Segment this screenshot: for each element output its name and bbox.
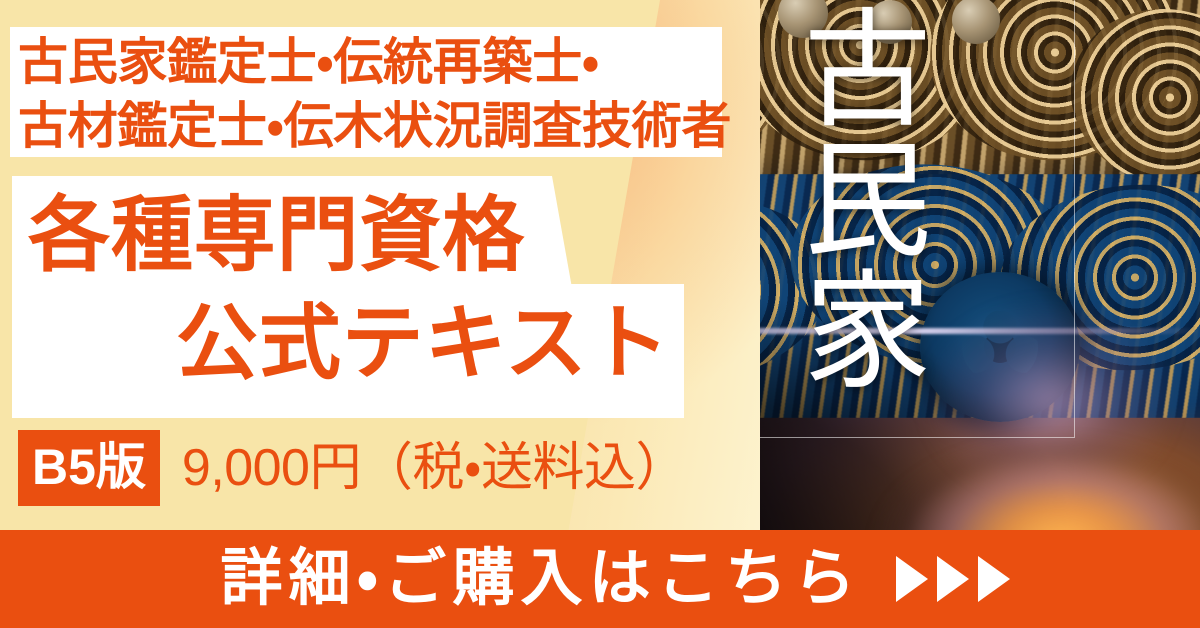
play-arrow-icon [978,556,1010,602]
price-row: B5版 9,000円（税・送料込） [18,430,687,506]
play-arrow-icon [896,556,928,602]
book-cover-title: 古民家 [772,2,922,394]
price-text: 9,000円（税・送料込） [182,442,687,494]
main-title-line-1: 各種専門資格 [18,182,678,290]
main-title: 各種専門資格 公式テキスト [18,182,678,398]
main-title-line-2: 公式テキスト [18,290,678,398]
cta-arrow-group [896,556,1010,602]
headline-line-1: 古民家鑑定士・伝統再築士・ [18,30,718,94]
promo-banner: 古民家 伝統構法、古民家活用のための調査と再生の 古民家鑑定士・伝統再築士・ 古… [0,0,1200,628]
size-badge: B5版 [18,430,160,506]
headline: 古民家鑑定士・伝統再築士・ 古材鑑定士・伝木状況調査技術者 [18,30,718,158]
play-arrow-icon [937,556,969,602]
headline-line-2: 古材鑑定士・伝木状況調査技術者 [18,94,718,158]
cta-bar[interactable]: 詳細・ご購入はこちら [0,530,1200,628]
cta-label: 詳細・ご購入はこちら [190,548,861,610]
